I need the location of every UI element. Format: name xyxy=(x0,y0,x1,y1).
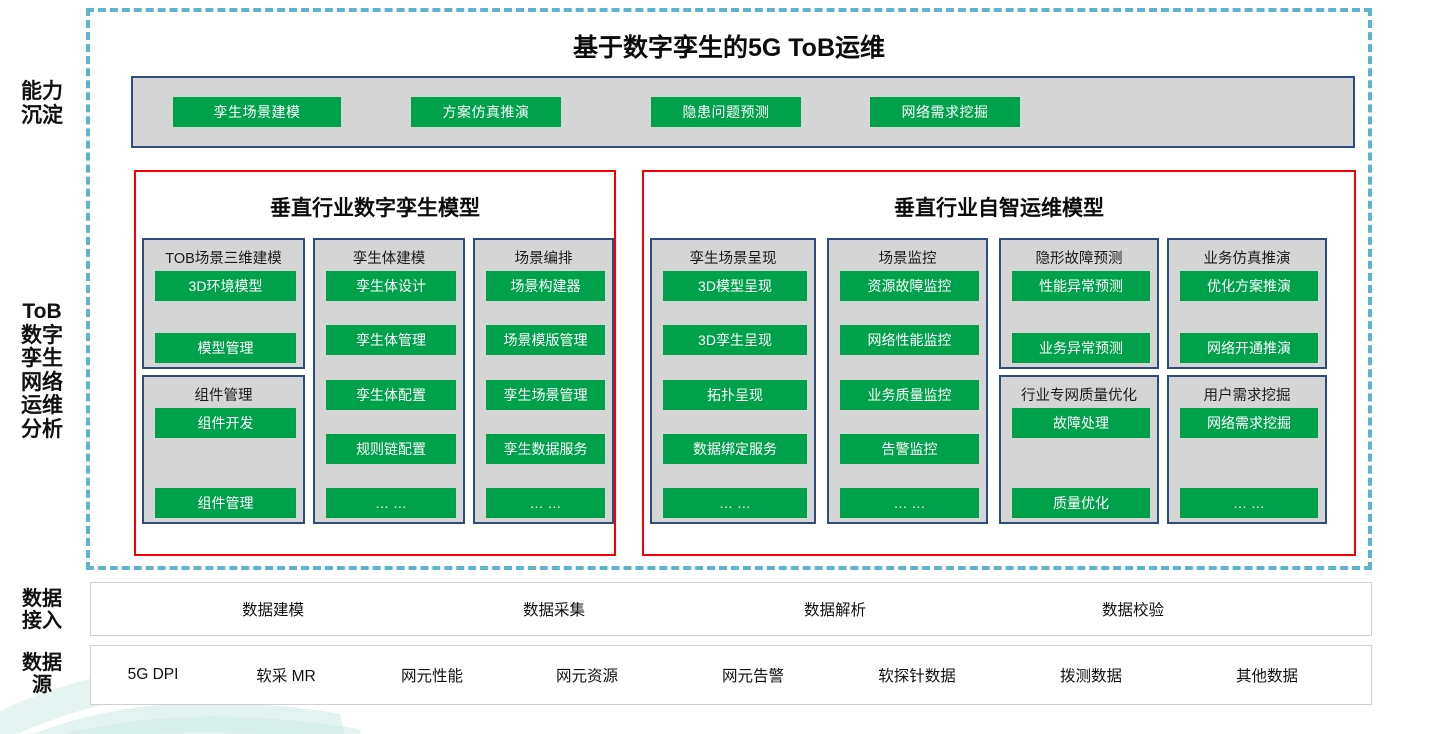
card-title: 用户需求挖掘 xyxy=(1169,384,1325,405)
chip-… …[interactable]: … … xyxy=(840,488,979,518)
data-source-item-3: 网元资源 xyxy=(556,664,618,686)
card-title: 业务仿真推演 xyxy=(1169,247,1325,268)
card-ops-3-1: 用户需求挖掘网络需求挖掘… … xyxy=(1167,375,1327,524)
data-source-item-5: 软探针数据 xyxy=(878,664,956,686)
chip-拓扑呈现[interactable]: 拓扑呈现 xyxy=(663,380,807,410)
card-title: 场景监控 xyxy=(829,247,986,268)
chip-孪生体管理[interactable]: 孪生体管理 xyxy=(326,325,456,355)
rail-label-data-access: 数据 接入 xyxy=(0,588,84,633)
chip-网络需求挖掘[interactable]: 网络需求挖掘 xyxy=(1180,408,1318,438)
chip-业务质量监控[interactable]: 业务质量监控 xyxy=(840,380,979,410)
capability-button-3[interactable]: 网络需求挖掘 xyxy=(870,97,1020,127)
chip-优化方案推演[interactable]: 优化方案推演 xyxy=(1180,271,1318,301)
card-ops-2-1: 行业专网质量优化故障处理质量优化 xyxy=(999,375,1159,524)
rail-label-capability: 能力 沉淀 xyxy=(0,80,84,127)
chip-组件开发[interactable]: 组件开发 xyxy=(155,408,296,438)
card-ops-1-0: 场景监控资源故障监控网络性能监控业务质量监控告警监控… … xyxy=(827,238,988,524)
chip-故障处理[interactable]: 故障处理 xyxy=(1012,408,1150,438)
rail-source-line2: 源 xyxy=(0,674,84,696)
capability-button-2[interactable]: 隐患问题预测 xyxy=(651,97,801,127)
capability-button-0[interactable]: 孪生场景建模 xyxy=(173,97,341,127)
chip-网络性能监控[interactable]: 网络性能监控 xyxy=(840,325,979,355)
chip-孪生体设计[interactable]: 孪生体设计 xyxy=(326,271,456,301)
card-twin-1-0: 孪生体建模孪生体设计孪生体管理孪生体配置规则链配置… … xyxy=(313,238,465,524)
card-title: 孪生体建模 xyxy=(315,247,463,268)
chip-3D环境模型[interactable]: 3D环境模型 xyxy=(155,271,296,301)
rail-analysis-line-4: 运维 xyxy=(0,394,84,418)
data-source-bar: 5G DPI软采 MR网元性能网元资源网元告警软探针数据拨测数据其他数据 xyxy=(90,645,1372,705)
chip-数据绑定服务[interactable]: 数据绑定服务 xyxy=(663,434,807,464)
chip-… …[interactable]: … … xyxy=(486,488,605,518)
chip-场景构建器[interactable]: 场景构建器 xyxy=(486,271,605,301)
chip-网络开通推演[interactable]: 网络开通推演 xyxy=(1180,333,1318,363)
chip-业务异常预测[interactable]: 业务异常预测 xyxy=(1012,333,1150,363)
card-twin-2-0: 场景编排场景构建器场景模版管理孪生场景管理孪生数据服务… … xyxy=(473,238,614,524)
rail-label-data-source: 数据 源 xyxy=(0,652,84,697)
chip-3D模型呈现[interactable]: 3D模型呈现 xyxy=(663,271,807,301)
capability-button-1[interactable]: 方案仿真推演 xyxy=(411,97,561,127)
chip-孪生体配置[interactable]: 孪生体配置 xyxy=(326,380,456,410)
rail-analysis-line-0: ToB xyxy=(0,300,84,324)
chip-场景模版管理[interactable]: 场景模版管理 xyxy=(486,325,605,355)
slide-canvas: 能力 沉淀 ToB 数字 孪生 网络 运维 分析 数据 接入 数据 源 基于数字… xyxy=(0,0,1438,734)
card-ops-0-0: 孪生场景呈现3D模型呈现3D孪生呈现拓扑呈现数据绑定服务… … xyxy=(650,238,816,524)
rail-source-line1: 数据 xyxy=(0,652,84,674)
rail-access-line2: 接入 xyxy=(0,610,84,632)
rail-capability-line2: 沉淀 xyxy=(0,104,84,128)
data-access-item-1: 数据采集 xyxy=(523,598,585,620)
card-ops-3-0: 业务仿真推演优化方案推演网络开通推演 xyxy=(1167,238,1327,369)
chip-规则链配置[interactable]: 规则链配置 xyxy=(326,434,456,464)
data-access-bar: 数据建模数据采集数据解析数据校验 xyxy=(90,582,1372,636)
data-source-item-4: 网元告警 xyxy=(722,664,784,686)
rail-label-analysis: ToB 数字 孪生 网络 运维 分析 xyxy=(0,300,84,441)
chip-模型管理[interactable]: 模型管理 xyxy=(155,333,296,363)
card-twin-0-1: 组件管理组件开发组件管理 xyxy=(142,375,305,524)
chip-… …[interactable]: … … xyxy=(663,488,807,518)
data-source-item-6: 拨测数据 xyxy=(1060,664,1122,686)
card-title: 场景编排 xyxy=(475,247,612,268)
panel-digital-twin-model: 垂直行业数字孪生模型 TOB场景三维建模3D环境模型模型管理组件管理组件开发组件… xyxy=(134,170,616,556)
rail-analysis-line-1: 数字 xyxy=(0,324,84,348)
data-access-item-3: 数据校验 xyxy=(1102,598,1164,620)
card-title: 组件管理 xyxy=(144,384,303,405)
chip-3D孪生呈现[interactable]: 3D孪生呈现 xyxy=(663,325,807,355)
data-source-item-7: 其他数据 xyxy=(1236,664,1298,686)
panel-title-twin: 垂直行业数字孪生模型 xyxy=(136,192,614,222)
panel-title-ops: 垂直行业自智运维模型 xyxy=(644,192,1354,222)
rail-analysis-line-5: 分析 xyxy=(0,418,84,442)
chip-… …[interactable]: … … xyxy=(326,488,456,518)
chip-性能异常预测[interactable]: 性能异常预测 xyxy=(1012,271,1150,301)
chip-… …[interactable]: … … xyxy=(1180,488,1318,518)
chip-资源故障监控[interactable]: 资源故障监控 xyxy=(840,271,979,301)
chip-组件管理[interactable]: 组件管理 xyxy=(155,488,296,518)
card-title: 孪生场景呈现 xyxy=(652,247,814,268)
rail-access-line1: 数据 xyxy=(0,588,84,610)
rail-analysis-line-2: 孪生 xyxy=(0,347,84,371)
rail-capability-line1: 能力 xyxy=(0,80,84,104)
chip-质量优化[interactable]: 质量优化 xyxy=(1012,488,1150,518)
card-twin-0-0: TOB场景三维建模3D环境模型模型管理 xyxy=(142,238,305,369)
data-source-item-2: 网元性能 xyxy=(401,664,463,686)
card-title: 行业专网质量优化 xyxy=(1001,384,1157,405)
data-source-item-1: 软采 MR xyxy=(256,664,315,686)
data-source-item-0: 5G DPI xyxy=(128,666,179,684)
card-ops-2-0: 隐形故障预测性能异常预测业务异常预测 xyxy=(999,238,1159,369)
card-title: TOB场景三维建模 xyxy=(144,247,303,268)
page-title: 基于数字孪生的5G ToB运维 xyxy=(86,28,1372,64)
chip-告警监控[interactable]: 告警监控 xyxy=(840,434,979,464)
panel-autonomous-ops-model: 垂直行业自智运维模型 孪生场景呈现3D模型呈现3D孪生呈现拓扑呈现数据绑定服务…… xyxy=(642,170,1356,556)
data-access-item-0: 数据建模 xyxy=(242,598,304,620)
rail-analysis-line-3: 网络 xyxy=(0,371,84,395)
card-title: 隐形故障预测 xyxy=(1001,247,1157,268)
data-access-item-2: 数据解析 xyxy=(804,598,866,620)
chip-孪生数据服务[interactable]: 孪生数据服务 xyxy=(486,434,605,464)
capability-strip: 孪生场景建模方案仿真推演隐患问题预测网络需求挖掘 xyxy=(131,76,1355,148)
chip-孪生场景管理[interactable]: 孪生场景管理 xyxy=(486,380,605,410)
